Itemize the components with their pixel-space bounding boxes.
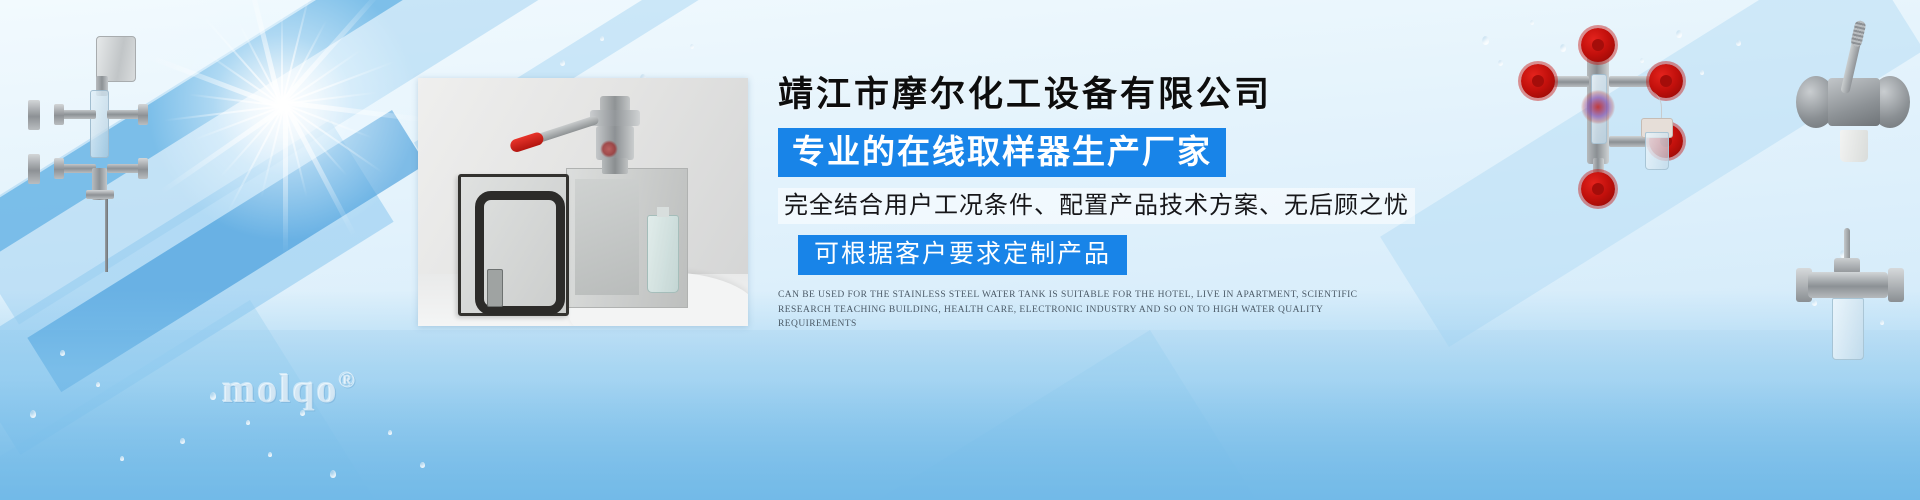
left-rig-end-flange: [28, 154, 40, 184]
logo-text: molqo: [222, 366, 339, 411]
door-latch: [487, 269, 503, 307]
company-seal-stamp: [1581, 90, 1615, 124]
sun-burst-icon: [138, 0, 428, 250]
sub-headline: 完全结合用户工况条件、配置产品技术方案、无后顾之忧: [778, 188, 1415, 224]
left-rig-flange: [138, 104, 148, 125]
valve-flange: [1888, 268, 1904, 302]
product-photo[interactable]: [418, 78, 748, 326]
valve-seal-mark: [600, 140, 618, 158]
watermark-logo: molqo®: [222, 365, 357, 412]
sun-ray: [281, 10, 283, 105]
valve-stem: [1844, 228, 1850, 262]
left-rig-flange: [54, 158, 64, 179]
left-rig-flange: [54, 104, 64, 125]
lever-valve-body: [1828, 78, 1880, 126]
cabinet-interior-panel: [575, 179, 639, 295]
lever-valve-outlet-cup: [1840, 130, 1868, 162]
cabinet-door: [458, 174, 569, 316]
valve-body: [1808, 272, 1888, 298]
water-droplet: [60, 350, 65, 356]
water-droplet: [388, 430, 392, 435]
registered-mark-icon: ®: [339, 368, 357, 393]
water-droplet: [420, 462, 425, 468]
sampler-cabinet-body: [566, 168, 688, 308]
left-rig-sight-glass: [90, 90, 109, 158]
water-droplet: [1482, 36, 1489, 45]
water-droplet: [1530, 20, 1534, 25]
water-droplet: [690, 44, 694, 49]
left-rig-flange: [138, 158, 148, 179]
water-droplet: [1498, 60, 1503, 66]
tagline-badge: 可根据客户要求定制产品: [798, 235, 1127, 275]
valve-segment: [602, 158, 628, 174]
sun-ray: [283, 103, 357, 238]
left-rig-end-flange: [28, 100, 40, 130]
valve-handwheel: [1581, 28, 1615, 62]
left-rig-pipe: [62, 110, 96, 119]
sun-ray: [283, 105, 288, 255]
valve-handwheel: [1521, 64, 1555, 98]
headline-badge: 专业的在线取样器生产厂家: [778, 128, 1226, 177]
water-droplet: [268, 452, 272, 457]
water-droplet: [30, 410, 36, 418]
water-droplet: [600, 36, 604, 41]
water-droplet: [210, 392, 216, 400]
company-name: 靖江市摩尔化工设备有限公司: [778, 72, 1398, 118]
cross-valve-arm: [1609, 76, 1653, 87]
water-droplet: [120, 456, 124, 461]
left-rig-flange: [86, 190, 114, 199]
water-droplet: [1736, 40, 1741, 46]
water-droplet: [330, 470, 336, 478]
sample-glass-vessel: [1832, 298, 1864, 360]
water-droplet: [96, 382, 100, 387]
cross-valve-assembly: [1515, 32, 1705, 187]
left-rig-probe-rod: [105, 194, 108, 272]
water-droplet: [180, 438, 185, 444]
left-equipment-illustration: [10, 18, 170, 308]
left-rig-pipe: [62, 164, 96, 173]
valve-handwheel: [1581, 172, 1615, 206]
sample-bottle: [647, 215, 679, 293]
banner-text-block: 靖江市摩尔化工设备有限公司 专业的在线取样器生产厂家 完全结合用户工况条件、配置…: [778, 72, 1398, 332]
english-description: CAN BE USED FOR THE STAINLESS STEEL WATE…: [778, 288, 1378, 332]
water-droplet: [246, 420, 250, 425]
promotional-banner: 靖江市摩尔化工设备有限公司 专业的在线取样器生产厂家 完全结合用户工况条件、配置…: [0, 0, 1920, 500]
sampling-valve-head: [586, 96, 644, 174]
water-droplet: [560, 60, 565, 66]
inline-sampling-valve: [1792, 228, 1912, 378]
lever-valve-assembly: [1790, 30, 1920, 195]
sample-collection-jar: [1645, 132, 1669, 170]
